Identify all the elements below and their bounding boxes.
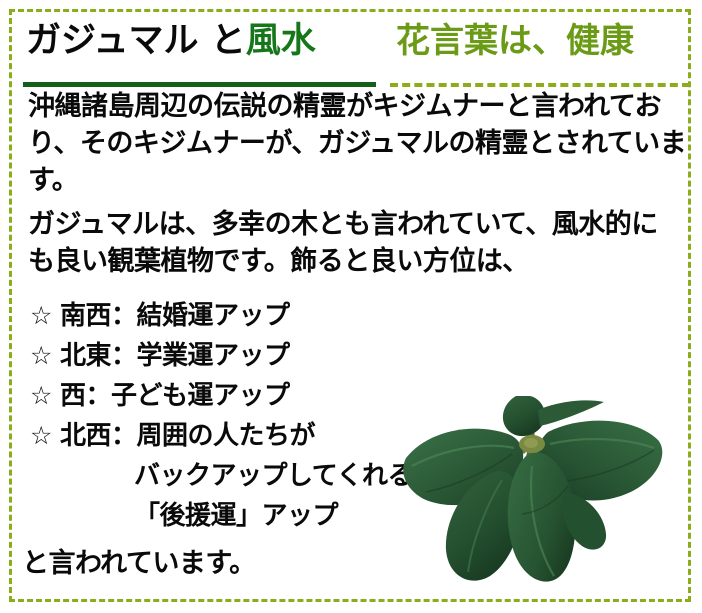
page-title-black-part: ガジュマル と	[26, 21, 246, 61]
gajumaru-leaves-photo	[398, 396, 664, 592]
paragraph-fengshui-intro: ガジュマルは、多幸の木とも言われていて、風水的にも良い観葉植物です。飾ると良い方…	[28, 206, 678, 280]
star-icon: ☆	[30, 416, 60, 456]
list-item-label: 西：子ども運アップ	[60, 381, 290, 411]
page-title-green-part: 風水	[246, 21, 316, 61]
leaf-upper	[503, 396, 545, 436]
subtitle-flower-language: 花言葉は、健康	[396, 18, 634, 64]
paragraph-kijimuna-legend: 沖縄諸島周辺の伝説の精霊がキジムナーと言われており、そのキジムナーが、ガジュマル…	[28, 88, 688, 199]
list-item: ☆西：子ども運アップ	[30, 376, 450, 416]
direction-list: ☆南西：結婚運アップ ☆北東：学業運アップ ☆西：子ども運アップ ☆北西：周囲の…	[30, 296, 450, 536]
list-item-label: バックアップしてくれる	[134, 461, 413, 491]
star-icon: ☆	[30, 336, 60, 376]
list-item-continuation: バックアップしてくれる	[30, 456, 450, 496]
list-item-label: 南西：結婚運アップ	[60, 301, 290, 331]
list-item: ☆北西：周囲の人たちが	[30, 416, 450, 456]
list-item-label: 北東：学業運アップ	[60, 341, 290, 371]
infographic-page: ガジュマル と風水 花言葉は、健康 沖縄諸島周辺の伝説の精霊がキジムナーと言われ…	[0, 0, 702, 613]
list-item-label: 北西：周囲の人たちが	[60, 421, 315, 451]
star-icon: ☆	[30, 296, 60, 336]
subtitle-dashed-underline	[390, 83, 690, 87]
star-icon: ☆	[30, 376, 60, 416]
list-item-label: 「後援運」アップ	[134, 501, 338, 531]
closing-line: と言われています。	[22, 545, 256, 583]
list-item: ☆北東：学業運アップ	[30, 336, 450, 376]
title-underline	[23, 82, 376, 87]
list-item-continuation: 「後援運」アップ	[30, 496, 450, 536]
list-item: ☆南西：結婚運アップ	[30, 296, 450, 336]
page-title: ガジュマル と風水	[26, 18, 316, 64]
header: ガジュマル と風水 花言葉は、健康	[0, 18, 702, 74]
